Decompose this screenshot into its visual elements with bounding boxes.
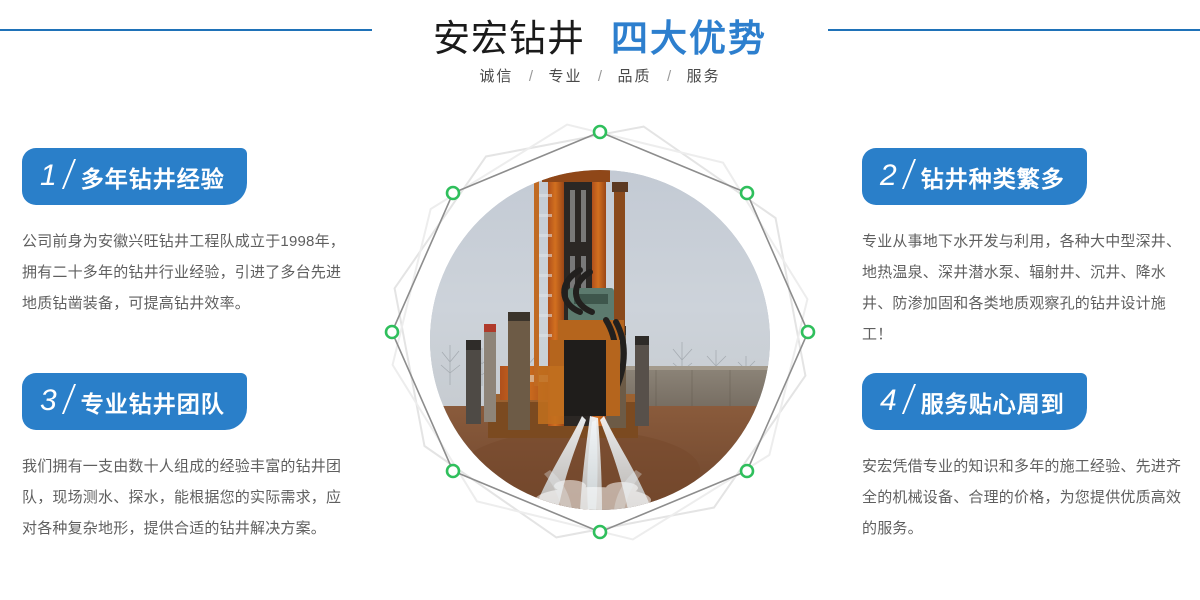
page-header: 安宏钻井四大优势 诚信 / 专业 / 品质 / 服务 — [0, 0, 1200, 118]
feature-block-1: 1 多年钻井经验 公司前身为安徽兴旺钻井工程队成立于1998年，拥有二十多年的钻… — [22, 148, 352, 319]
feature-block-2: 2 钻井种类繁多 专业从事地下水开发与利用，各种大中型深井、地热温泉、深井潜水泵… — [862, 148, 1192, 350]
node-bottom-left-icon — [447, 465, 459, 477]
feature-number-icon: 2 — [880, 161, 911, 191]
feature-number-icon: 4 — [880, 386, 911, 416]
center-graphic — [370, 110, 830, 570]
subtitle-word-3: 品质 — [618, 68, 652, 85]
feature-description: 公司前身为安徽兴旺钻井工程队成立于1998年，拥有二十多年的钻井行业经验，引进了… — [22, 226, 352, 319]
subtitle-separator: / — [529, 68, 533, 85]
feature-badge-2: 2 钻井种类繁多 — [862, 148, 1087, 205]
feature-description: 专业从事地下水开发与利用，各种大中型深井、地热温泉、深井潜水泵、辐射井、沉井、降… — [862, 226, 1192, 350]
node-top-right-icon — [741, 187, 753, 199]
page-title: 安宏钻井四大优势 — [0, 8, 1200, 62]
feature-block-3: 3 专业钻井团队 我们拥有一支由数十人组成的经验丰富的钻井团队，现场测水、探水，… — [22, 373, 352, 544]
node-top-icon — [594, 126, 606, 138]
node-left-icon — [386, 326, 398, 338]
feature-title: 专业钻井团队 — [81, 385, 225, 419]
node-right-icon — [802, 326, 814, 338]
feature-badge-3: 3 专业钻井团队 — [22, 373, 247, 430]
feature-description: 安宏凭借专业的知识和多年的施工经验、先进齐全的机械设备、合理的价格，为您提供优质… — [862, 451, 1192, 544]
feature-title: 服务贴心周到 — [921, 385, 1065, 419]
subtitle-word-2: 专业 — [548, 68, 582, 85]
title-accent: 四大优势 — [611, 18, 767, 59]
node-bottom-icon — [594, 526, 606, 538]
feature-description: 我们拥有一支由数十人组成的经验丰富的钻井团队，现场测水、探水，能根据您的实际需求… — [22, 451, 352, 544]
octagon-node-icons — [370, 110, 830, 570]
feature-block-4: 4 服务贴心周到 安宏凭借专业的知识和多年的施工经验、先进齐全的机械设备、合理的… — [862, 373, 1192, 544]
node-bottom-right-icon — [741, 465, 753, 477]
subtitle-separator: / — [598, 68, 602, 85]
feature-number-icon: 1 — [40, 161, 71, 191]
subtitle-word-4: 服务 — [687, 68, 721, 85]
feature-number-icon: 3 — [40, 386, 71, 416]
feature-title: 多年钻井经验 — [81, 160, 225, 194]
feature-badge-1: 1 多年钻井经验 — [22, 148, 247, 205]
title-company: 安宏钻井 — [433, 18, 585, 59]
feature-title: 钻井种类繁多 — [921, 160, 1065, 194]
node-top-left-icon — [447, 187, 459, 199]
feature-badge-4: 4 服务贴心周到 — [862, 373, 1087, 430]
subtitle-word-1: 诚信 — [479, 68, 513, 85]
header-subtitle: 诚信 / 专业 / 品质 / 服务 — [0, 65, 1200, 86]
subtitle-separator: / — [667, 68, 671, 85]
